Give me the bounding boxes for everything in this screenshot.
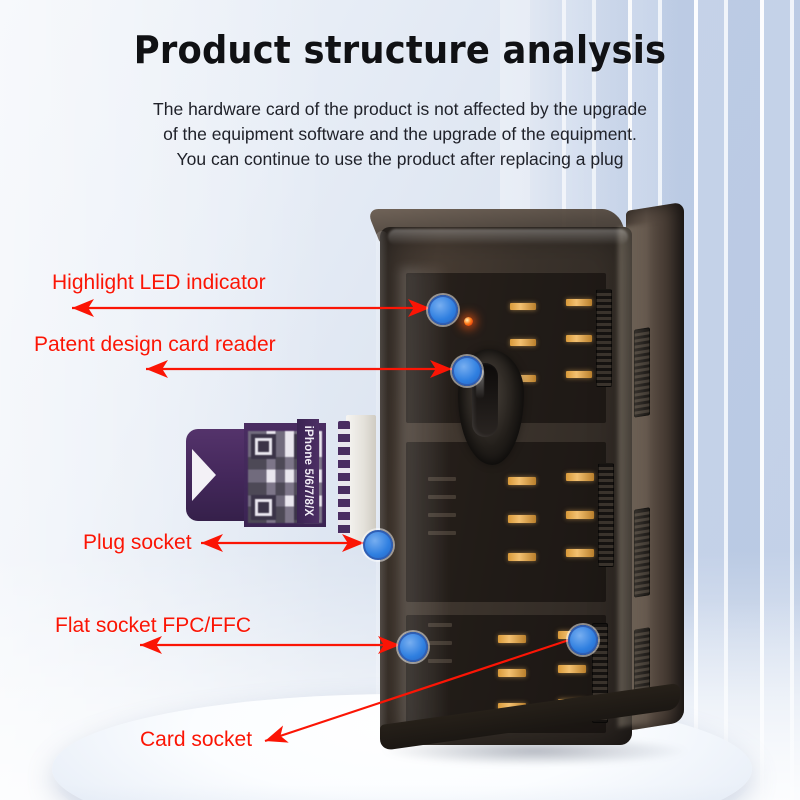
gold-contact	[566, 371, 592, 378]
gold-contact	[566, 549, 594, 557]
gold-contact	[510, 303, 536, 310]
subtitle-line-1: The hardware card of the product is not …	[90, 97, 710, 122]
internal-connector-mid	[598, 463, 614, 567]
gold-contact	[508, 553, 536, 561]
gold-contact	[510, 339, 536, 346]
flex-cable-model-label: iPhone 5/6/7/8/X	[297, 419, 319, 523]
device-gloss	[400, 267, 446, 747]
label-card-socket: Card socket	[140, 728, 252, 752]
device-sheen	[618, 222, 654, 727]
gold-contact	[558, 665, 586, 673]
qr-finder-bl	[251, 495, 276, 520]
internal-connector-top	[596, 289, 612, 387]
flex-cable: iPhone 5/6/7/8/X	[186, 415, 386, 535]
gold-contact	[508, 515, 536, 523]
label-flat-socket: Flat socket FPC/FFC	[55, 614, 251, 638]
device-top-glare	[388, 229, 628, 245]
card-socket-marker	[568, 625, 598, 655]
label-led-indicator: Highlight LED indicator	[52, 271, 266, 295]
gold-contact	[566, 335, 592, 342]
flat-socket-marker	[398, 632, 428, 662]
led-indicator-light	[464, 317, 473, 326]
card-reader-marker	[452, 356, 482, 386]
gold-contact	[498, 635, 526, 643]
flex-cable-teeth	[338, 421, 350, 535]
infographic-canvas: Product structure analysis The hardware …	[0, 0, 800, 800]
subtitle-line-3: You can continue to use the product afte…	[90, 147, 710, 172]
led-marker	[428, 295, 458, 325]
gold-contact	[498, 669, 526, 677]
gold-contact	[566, 473, 594, 481]
qr-finder-tl	[251, 434, 276, 459]
gold-contact	[566, 299, 592, 306]
gold-contact	[566, 511, 594, 519]
device-front-face	[380, 227, 632, 745]
gold-contact	[508, 477, 536, 485]
plug-socket-marker	[363, 530, 393, 560]
flex-cable-connector	[346, 415, 376, 541]
flex-cable-notch	[192, 449, 216, 501]
subtitle-line-2: of the equipment software and the upgrad…	[90, 122, 710, 147]
product-device	[368, 205, 688, 755]
label-plug-socket: Plug socket	[83, 531, 192, 555]
page-title: Product structure analysis	[28, 28, 772, 72]
page-subtitle: The hardware card of the product is not …	[90, 97, 710, 172]
label-card-reader: Patent design card reader	[34, 333, 276, 357]
